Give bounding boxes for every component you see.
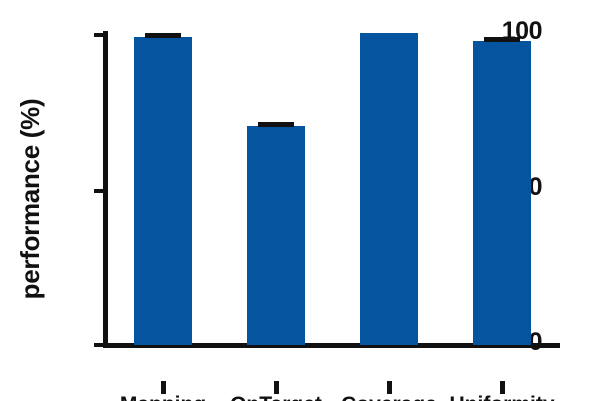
x-tick-label-uniformity: Uniformity (450, 394, 555, 401)
y-tick-mark-0 (94, 343, 107, 347)
bar-mapping (134, 37, 192, 345)
y-axis-title: performance (%) (10, 43, 50, 355)
x-tick-label-ontarget: OnTarget (230, 394, 322, 401)
bar-coverage (360, 33, 418, 345)
error-bar-cap-mapping (145, 33, 181, 38)
error-bar-cap-ontarget (258, 122, 294, 127)
x-tick-label-mapping: Mapping (120, 394, 206, 401)
chart-figure: performance (%) 100 50 0 Mapping O (0, 0, 600, 401)
bar-uniformity (473, 41, 531, 345)
plot-area: 100 50 0 Mapping OnTarget Coverage Unifo… (107, 33, 560, 345)
error-bar-cap-uniformity (484, 37, 520, 42)
x-tick-label-coverage: Coverage (341, 394, 437, 401)
y-tick-mark-50 (94, 189, 107, 193)
bar-ontarget (247, 126, 305, 345)
y-tick-mark-100 (94, 33, 107, 37)
